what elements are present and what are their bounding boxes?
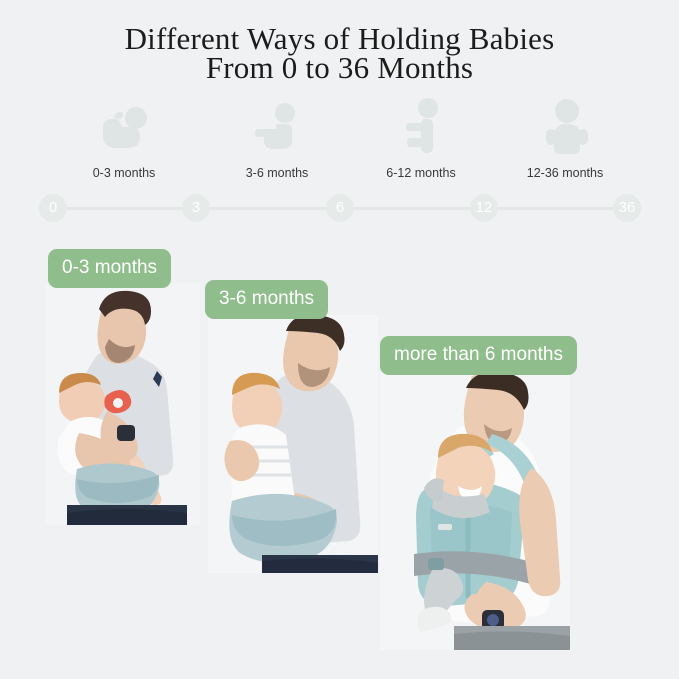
infographic-page: Different Ways of Holding Babies From 0 …	[0, 0, 679, 679]
card-tag-0-3-months: 0-3 months	[48, 249, 171, 288]
timeline-tick-3: 3	[182, 194, 210, 222]
page-title: Different Ways of Holding Babies From 0 …	[0, 22, 679, 83]
timeline-tick-6: 6	[326, 194, 354, 222]
title-line-2: From 0 to 36 Months	[0, 53, 679, 83]
photo-father-cradling-newborn	[45, 283, 200, 525]
card-tag-more-than-6-months: more than 6 months	[380, 336, 577, 375]
photo-father-with-baby-carrier	[380, 372, 570, 650]
timeline-label-12-36: 12-36 months	[485, 166, 645, 180]
timeline-label-0-3: 0-3 months	[44, 166, 204, 180]
timeline-tick-36: 36	[613, 194, 641, 222]
timeline-label-3-6: 3-6 months	[197, 166, 357, 180]
baby-standing-icon	[532, 96, 602, 154]
timeline-tick-0: 0	[39, 194, 67, 222]
age-timeline: 0-3 months 3-6 months 6-12 months 12-36 …	[0, 96, 679, 226]
timeline-label-6-12: 6-12 months	[341, 166, 501, 180]
timeline-tick-12: 12	[470, 194, 498, 222]
baby-lying-icon	[89, 96, 159, 154]
baby-reclined-icon	[243, 96, 313, 154]
photo-father-holding-toddler	[208, 315, 378, 573]
card-tag-3-6-months: 3-6 months	[205, 280, 328, 319]
baby-crawling-icon	[389, 96, 459, 154]
